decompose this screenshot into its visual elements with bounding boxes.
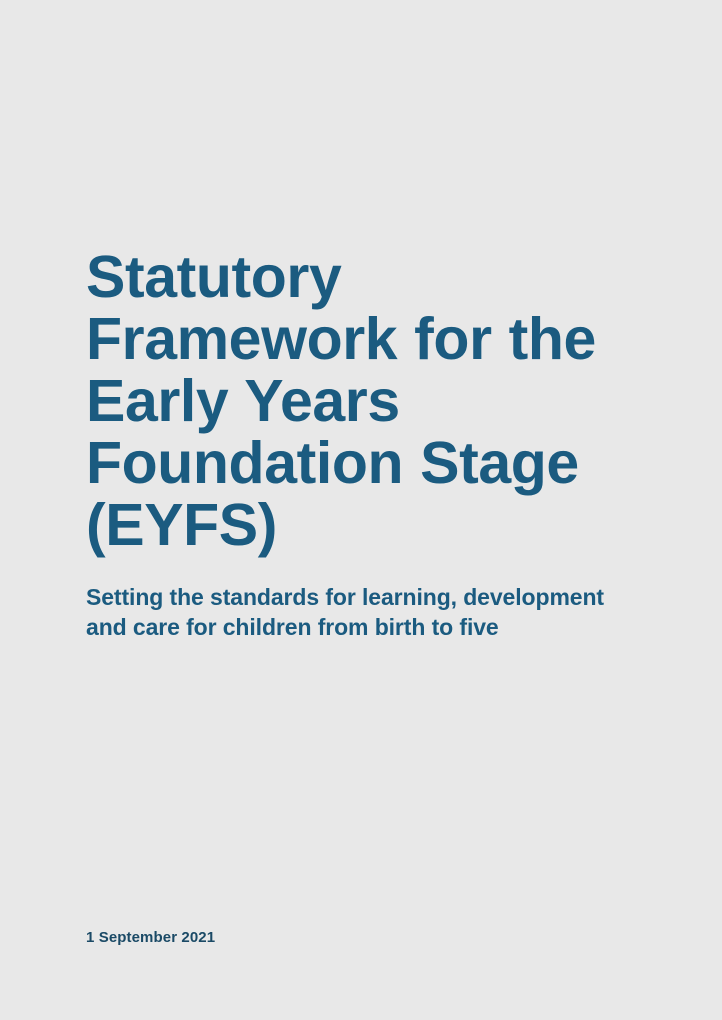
page-title: Statutory Framework for the Early Years … <box>86 246 666 556</box>
document-cover-page: Statutory Framework for the Early Years … <box>0 0 722 1020</box>
page-subtitle: Setting the standards for learning, deve… <box>86 556 646 642</box>
cover-text-block: Statutory Framework for the Early Years … <box>86 246 666 642</box>
publication-date: 1 September 2021 <box>86 928 215 948</box>
